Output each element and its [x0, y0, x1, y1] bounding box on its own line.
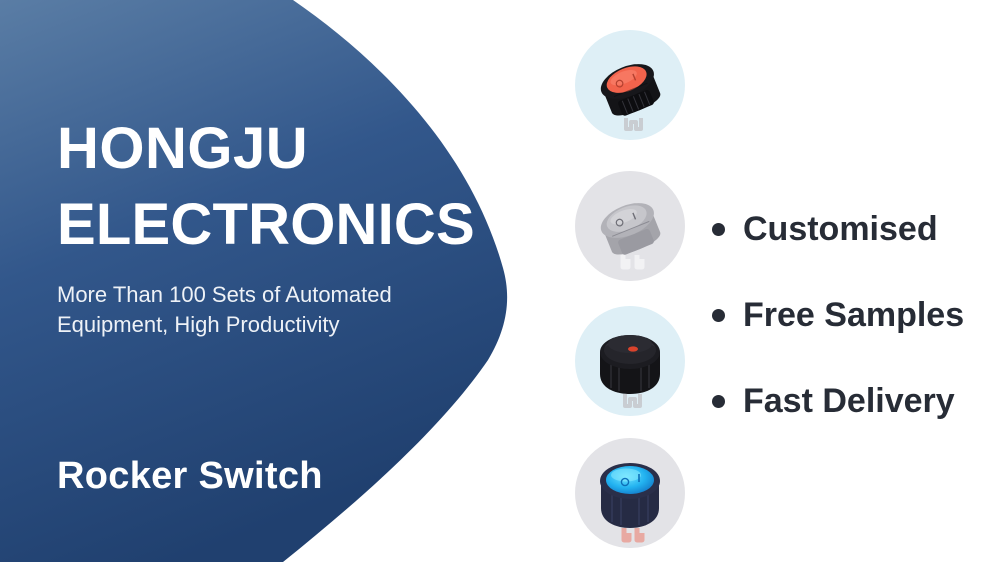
- feature-list: Customised Free Samples Fast Delivery: [712, 186, 992, 444]
- product-thumbnail-black-round-rocker-switch[interactable]: [571, 302, 689, 420]
- feature-label: Fast Delivery: [743, 384, 955, 418]
- product-thumbnail-list: [571, 22, 693, 556]
- promo-banner: HONGJU ELECTRONICS More Than 100 Sets of…: [0, 0, 1000, 562]
- rocker-switch-red-oval-icon: [571, 26, 689, 144]
- feature-label: Customised: [743, 212, 938, 246]
- bullet-dot-icon: [712, 309, 725, 322]
- feature-item-free-samples: Free Samples: [712, 272, 992, 358]
- feature-item-customised: Customised: [712, 186, 992, 272]
- brand-text-block: HONGJU ELECTRONICS More Than 100 Sets of…: [57, 120, 477, 341]
- brand-title-line2: ELECTRONICS: [57, 196, 477, 254]
- product-thumbnail-red-oval-rocker-switch[interactable]: [571, 26, 689, 144]
- rocker-switch-black-round-icon: [571, 302, 689, 420]
- product-category-title: Rocker Switch: [57, 455, 323, 498]
- feature-label: Free Samples: [743, 298, 964, 332]
- brand-tagline: More Than 100 Sets of Automated Equipmen…: [57, 280, 457, 341]
- product-thumbnail-blue-illuminated-rocker-switch[interactable]: [571, 434, 689, 552]
- bullet-dot-icon: [712, 395, 725, 408]
- rocker-switch-grey-oval-icon: [571, 167, 689, 285]
- brand-title-line1: HONGJU: [57, 120, 477, 178]
- bullet-dot-icon: [712, 223, 725, 236]
- feature-item-fast-delivery: Fast Delivery: [712, 358, 992, 444]
- product-thumbnail-grey-oval-rocker-switch[interactable]: [571, 167, 689, 285]
- rocker-switch-blue-illuminated-icon: [571, 434, 689, 552]
